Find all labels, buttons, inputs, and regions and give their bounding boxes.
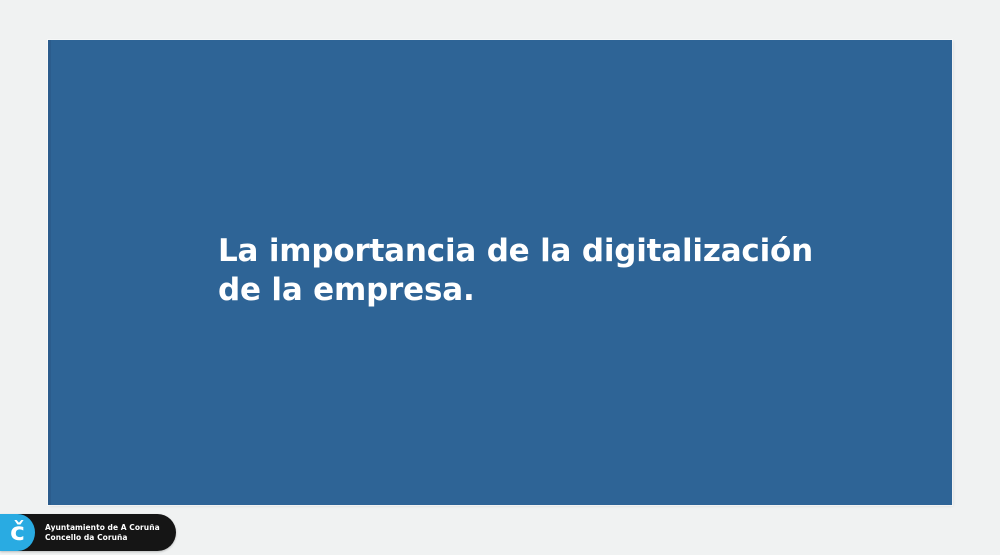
presentation-viewer: La importancia de la digitalización de l… xyxy=(0,0,1000,555)
coruna-c-tilde-icon: č xyxy=(10,519,25,546)
slide-title: La importancia de la digitalización de l… xyxy=(218,232,858,310)
institutional-logo-badge: č Ayuntamiento de A Coruña Concello da C… xyxy=(0,514,176,551)
logo-line-spanish: Ayuntamiento de A Coruña xyxy=(45,523,160,533)
logo-line-galician: Concello da Coruña xyxy=(45,533,160,543)
coruna-logo-mark: č xyxy=(0,514,35,551)
slide-canvas[interactable]: La importancia de la digitalización de l… xyxy=(48,40,952,505)
logo-text-block: Ayuntamiento de A Coruña Concello da Cor… xyxy=(45,523,160,543)
slide-title-block: La importancia de la digitalización de l… xyxy=(218,232,858,310)
